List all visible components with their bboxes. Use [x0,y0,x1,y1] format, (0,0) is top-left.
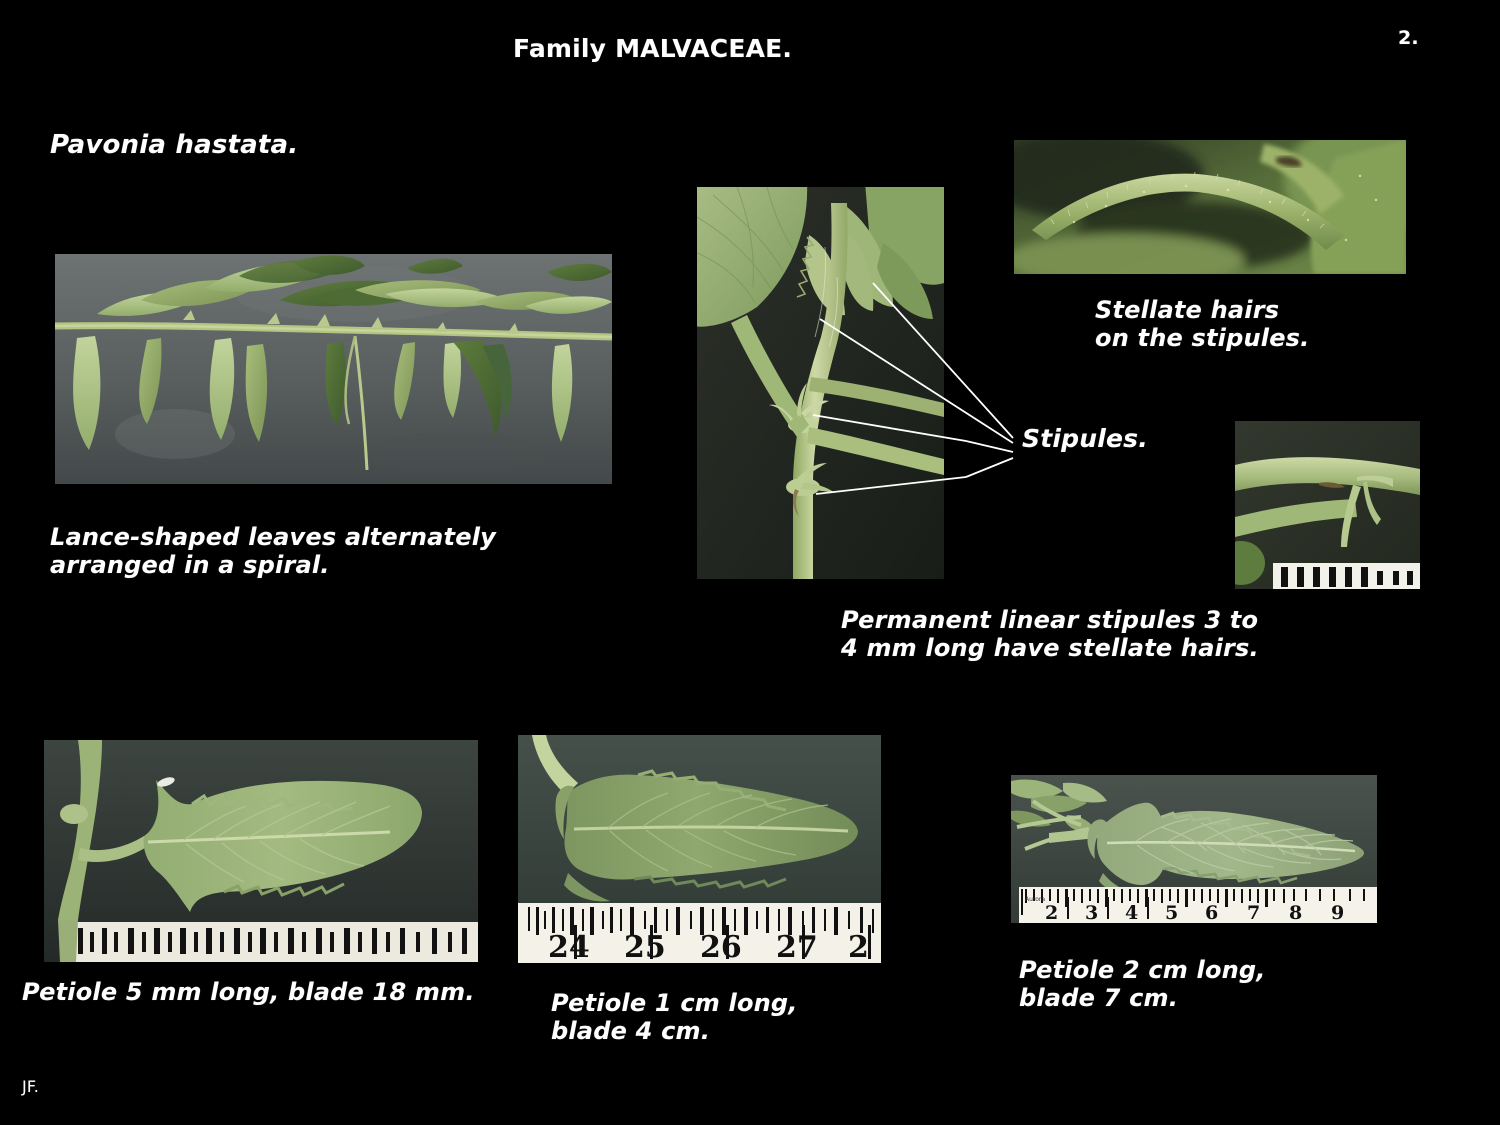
svg-text:5: 5 [1165,902,1178,923]
label-stipules: Stipules. [1022,424,1148,454]
photo-stellate-hairs-macro [1014,140,1406,274]
svg-text:4: 4 [1125,902,1138,923]
caption-leaf-2: Petiole 1 cm long, blade 4 cm. [551,989,798,1046]
svg-text:6: 6 [1205,902,1218,923]
species-name: Pavonia hastata. [50,130,298,161]
photo-stipules-with-ruler [1235,421,1420,589]
svg-text:Aurora: Aurora [1025,896,1045,903]
svg-text:3: 3 [1085,902,1098,923]
svg-text:25: 25 [624,930,666,963]
stipule-leader-3 [966,441,1013,452]
caption-leaf-1: Petiole 5 mm long, blade 18 mm. [22,978,475,1006]
photo-branch-with-lance-shaped-leaves [55,254,612,484]
photo-stem-node-stipules-closeup [697,187,944,579]
slide-title: Family MALVACEAE. [513,34,792,64]
caption-leaf-3: Petiole 2 cm long, blade 7 cm. [1019,956,1266,1013]
photo-medium-leaf-with-ruler: 24 25 26 27 2 [518,735,881,963]
caption-stellate-hairs: Stellate hairs on the stipules. [1095,296,1309,353]
svg-text:27: 27 [776,930,818,963]
page-number: 2. [1398,27,1419,49]
caption-branch: Lance-shaped leaves alternately arranged… [50,523,496,580]
svg-text:9: 9 [1331,902,1344,923]
svg-text:2: 2 [848,930,869,963]
svg-text:26: 26 [700,930,742,963]
photo-small-leaf-with-ruler [44,740,478,962]
svg-text:2: 2 [1045,902,1058,923]
svg-text:7: 7 [1247,902,1260,923]
author-signature: JF. [22,1078,39,1097]
photo-large-leaf-with-ruler: Aurora 23 45 67 89 [1011,775,1377,923]
svg-text:8: 8 [1289,902,1302,923]
stipule-leader-4 [966,458,1013,477]
svg-text:24: 24 [548,930,590,963]
caption-linear-stipules: Permanent linear stipules 3 to 4 mm long… [841,606,1259,663]
